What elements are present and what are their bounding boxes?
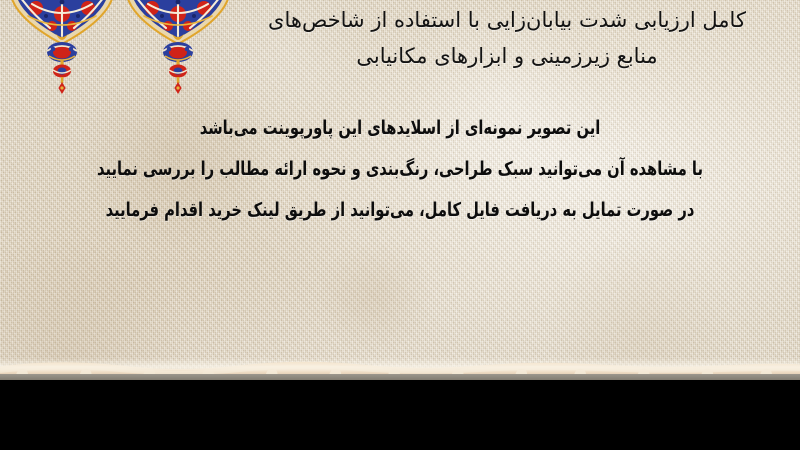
slide-body: این تصویر نمونه‌ای از اسلایدهای این پاور… <box>0 108 800 231</box>
slide-body-line-3: در صورت تمایل به دریافت فایل کامل، می‌تو… <box>56 190 744 231</box>
slide-canvas: کامل ارزیابی شدت بیابان‌زایی با استفاده … <box>0 0 800 450</box>
persian-medallion-left <box>10 0 114 94</box>
slide-title: کامل ارزیابی شدت بیابان‌زایی با استفاده … <box>222 2 792 74</box>
slide-body-line-1: این تصویر نمونه‌ای از اسلایدهای این پاور… <box>56 108 744 149</box>
fringe-black-field <box>0 374 800 450</box>
persian-medallion-right <box>126 0 230 94</box>
slide-title-line-2: منابع زیرزمینی و ابزارهای مکانیابی <box>222 38 792 74</box>
carpet-fringe <box>0 358 800 450</box>
slide-title-line-1: کامل ارزیابی شدت بیابان‌زایی با استفاده … <box>222 2 792 38</box>
slide-body-line-2: با مشاهده آن می‌توانید سبک طراحی، رنگ‌بن… <box>56 149 744 190</box>
persian-ornament-group <box>0 0 260 115</box>
fringe-upper-glow <box>0 358 800 380</box>
